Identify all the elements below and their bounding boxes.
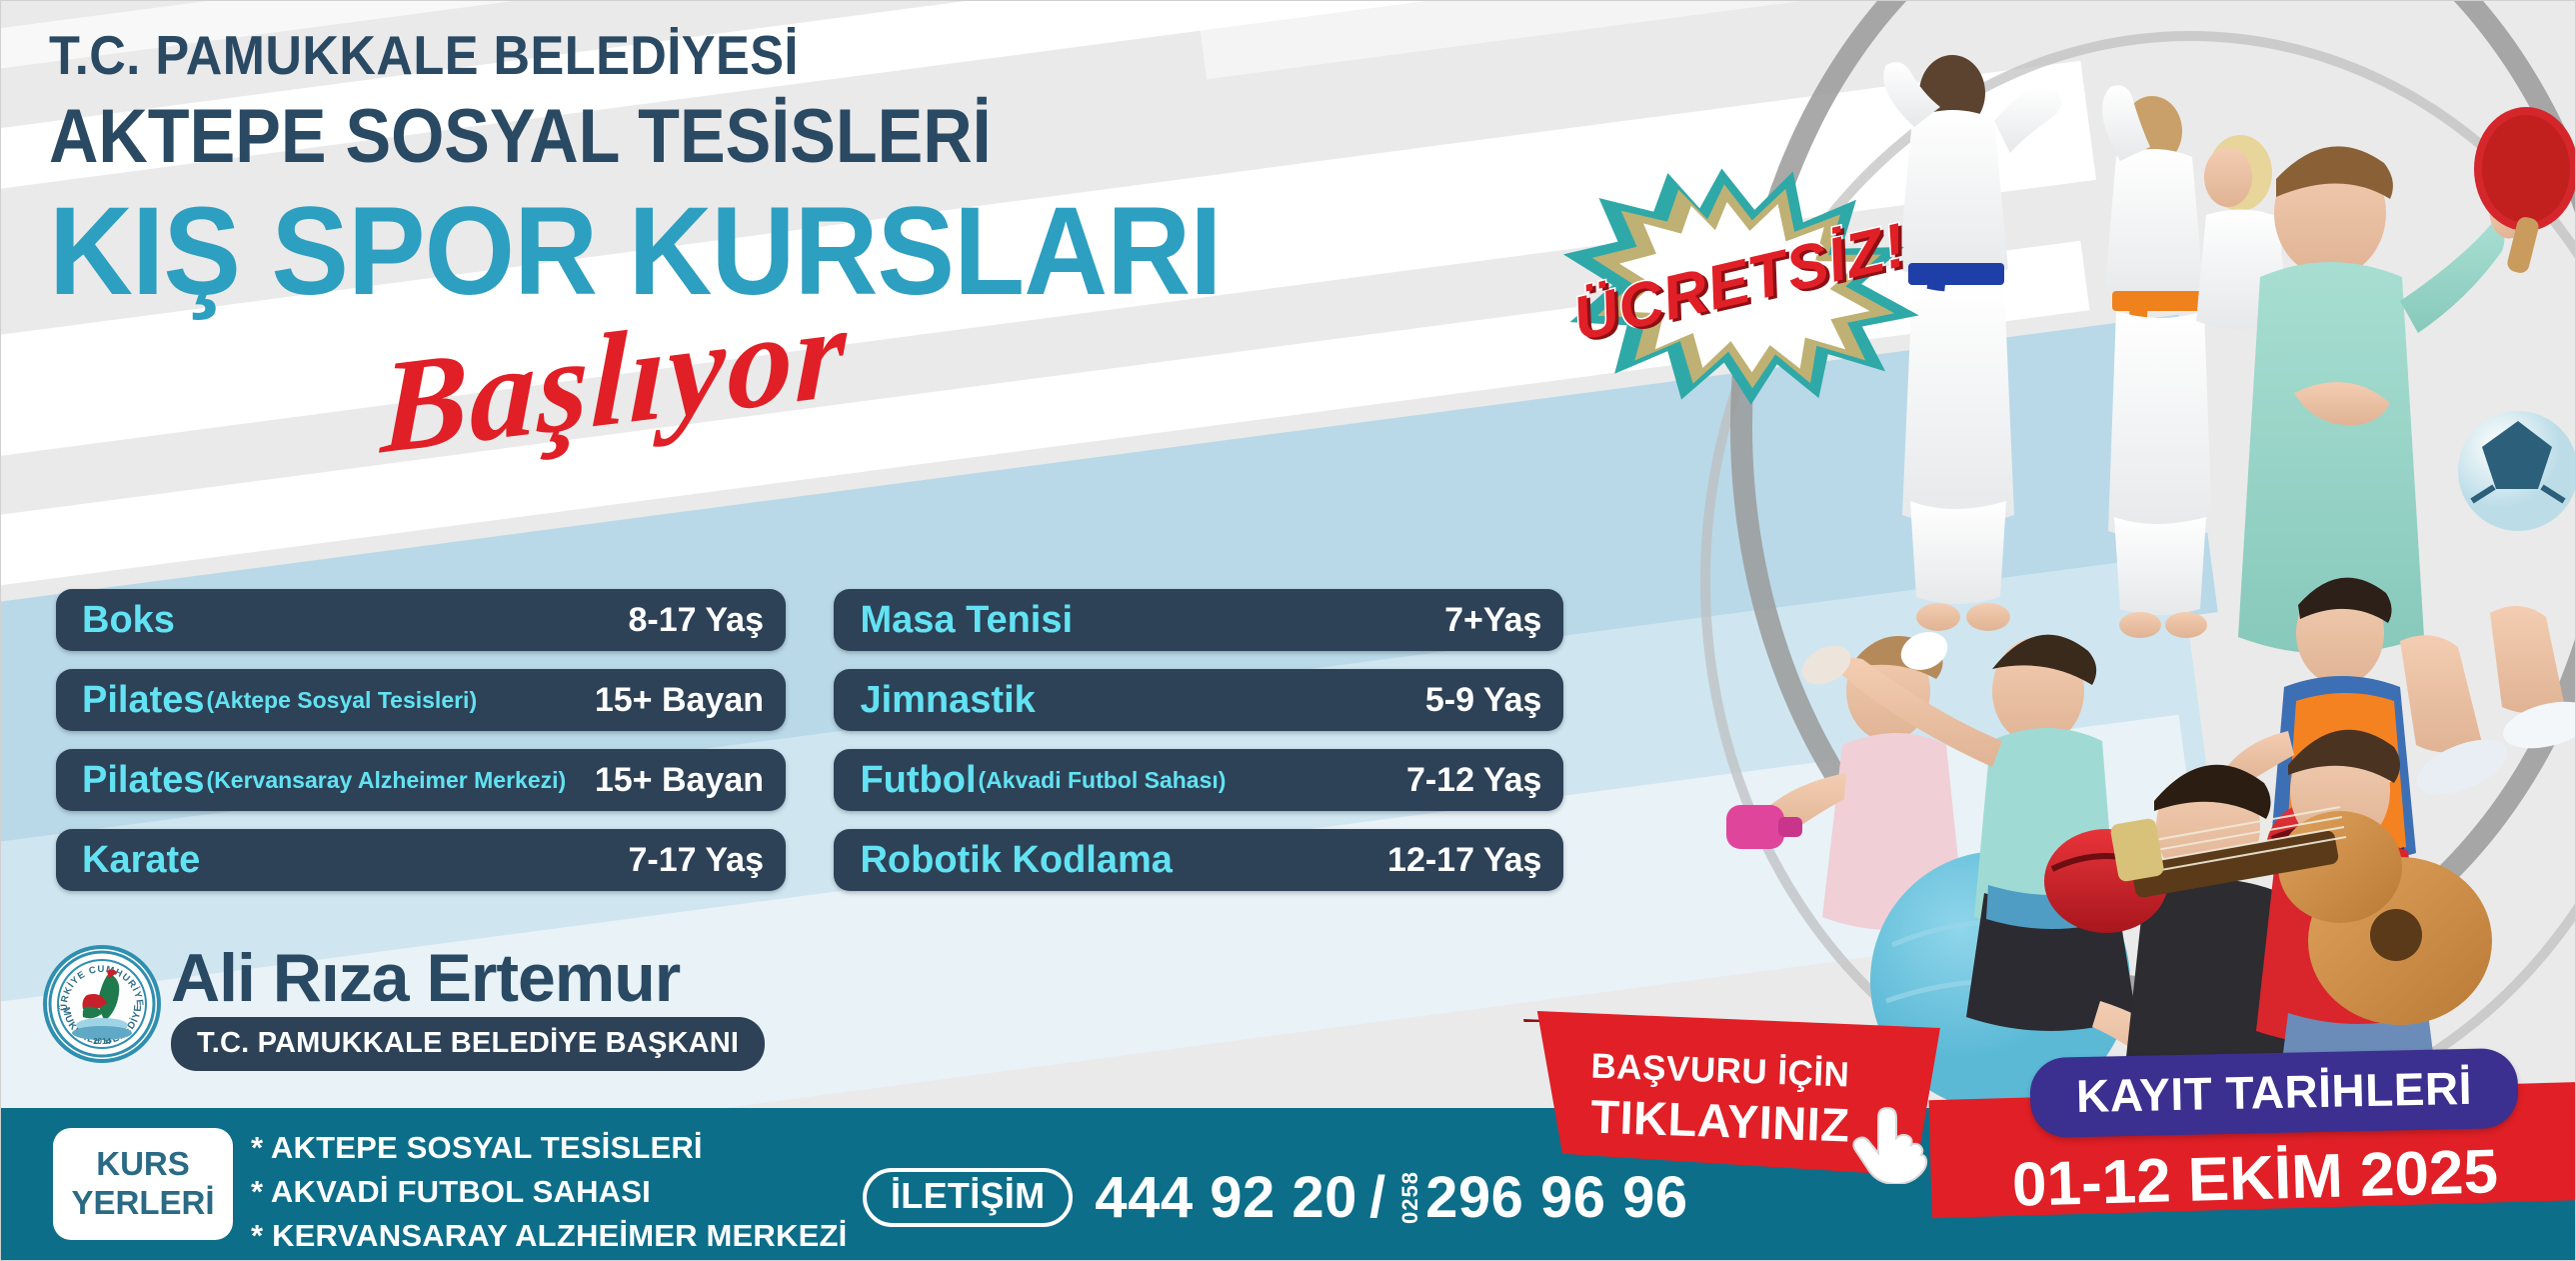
runner-legs xyxy=(2400,606,2576,805)
poster-banner: T.C. PAMUKKALE BELEDİYESİ AKTEPE SOSYAL … xyxy=(0,0,2576,1261)
contact-label: İLETİŞİM xyxy=(863,1168,1073,1227)
course-row-pilates-aktepe[interactable]: Pilates (Aktepe Sosyal Tesisleri) 15+ Ba… xyxy=(56,669,786,731)
karate-athlete-orange-belt xyxy=(2102,85,2212,638)
course-row-futbol[interactable]: Futbol (Akvadi Futbol Sahası) 7-12 Yaş xyxy=(834,749,1563,811)
course-age: 8-17 Yaş xyxy=(628,601,764,640)
course-age: 5-9 Yaş xyxy=(1425,681,1542,720)
course-row-pilates-kervansaray[interactable]: Pilates (Kervansaray Alzheimer Merkezi) … xyxy=(56,749,786,811)
svg-text:2014: 2014 xyxy=(93,1037,111,1046)
phone-separator: / xyxy=(1369,1164,1385,1231)
course-name: Karate xyxy=(82,839,200,882)
table-tennis-athlete xyxy=(2238,107,2576,654)
course-name: Pilates xyxy=(82,679,205,722)
course-column-right: Masa Tenisi 7+Yaş Jimnastik 5-9 Yaş Futb… xyxy=(834,589,1563,909)
course-name: Pilates xyxy=(82,759,205,802)
course-name: Robotik Kodlama xyxy=(860,839,1172,882)
phone-area-code: 0258 xyxy=(1397,1171,1423,1224)
venue-item: * AKVADİ FUTBOL SAHASI xyxy=(251,1170,847,1214)
course-age: 7-17 Yaş xyxy=(628,841,764,880)
venues-badge: KURS YERLERİ xyxy=(53,1128,233,1240)
header-main-title: KIŞ SPOR KURSLARI xyxy=(49,186,1222,317)
municipality-seal-logo: TÜRKİYE CUMHURİYETİ PAMUKKALE BELEDİYESİ… xyxy=(43,945,161,1063)
venues-badge-line-2: YERLERİ xyxy=(71,1184,214,1223)
venues-list: * AKTEPE SOSYAL TESİSLERİ * AKVADİ FUTBO… xyxy=(251,1126,847,1258)
venue-item: * AKTEPE SOSYAL TESİSLERİ xyxy=(251,1126,847,1170)
course-age: 7-12 Yaş xyxy=(1406,761,1542,800)
course-name: Futbol xyxy=(860,759,976,802)
course-name: Boks xyxy=(82,599,175,642)
course-list: Boks 8-17 Yaş Pilates (Aktepe Sosyal Tes… xyxy=(56,589,1563,909)
course-row-boks[interactable]: Boks 8-17 Yaş xyxy=(56,589,786,651)
registration-label-badge: KAYIT TARİHLERİ xyxy=(2029,1048,2519,1138)
soccer-ball xyxy=(2458,411,2576,531)
venues-badge-line-1: KURS xyxy=(96,1145,190,1184)
course-name: Jimnastik xyxy=(860,679,1035,722)
course-row-karate[interactable]: Karate 7-17 Yaş xyxy=(56,829,786,891)
mayor-title: T.C. PAMUKKALE BELEDİYE BAŞKANI xyxy=(171,1017,765,1071)
course-age: 12-17 Yaş xyxy=(1387,841,1541,880)
course-venue: (Akvadi Futbol Sahası) xyxy=(979,767,1227,794)
registration-dates: 01-12 EKİM 2025 xyxy=(2011,1136,2499,1221)
course-name: Masa Tenisi xyxy=(860,599,1073,642)
course-venue: (Aktepe Sosyal Tesisleri) xyxy=(207,687,478,714)
course-age: 7+Yaş xyxy=(1444,601,1541,640)
header-municipality: T.C. PAMUKKALE BELEDİYESİ xyxy=(49,23,799,87)
venue-item: * KERVANSARAY ALZHEİMER MERKEZİ xyxy=(251,1214,847,1258)
header-facility: AKTEPE SOSYAL TESİSLERİ xyxy=(49,93,992,180)
course-venue: (Kervansaray Alzheimer Merkezi) xyxy=(207,767,567,794)
seal-icon: TÜRKİYE CUMHURİYETİ PAMUKKALE BELEDİYESİ… xyxy=(47,949,157,1059)
apply-cta-ribbon[interactable]: BAŞVURU İÇİN TIKLAYINIZ xyxy=(1520,1011,1940,1181)
course-age: 15+ Bayan xyxy=(595,681,764,720)
course-age: 15+ Bayan xyxy=(595,761,764,800)
course-row-robotik-kodlama[interactable]: Robotik Kodlama 12-17 Yaş xyxy=(834,829,1563,891)
click-hand-cursor-icon xyxy=(1838,1088,1934,1189)
mayor-name: Ali Rıza Ertemur xyxy=(171,939,680,1017)
phone-number-primary[interactable]: 444 92 20 xyxy=(1095,1164,1357,1231)
course-row-jimnastik[interactable]: Jimnastik 5-9 Yaş xyxy=(834,669,1563,731)
course-column-left: Boks 8-17 Yaş Pilates (Aktepe Sosyal Tes… xyxy=(56,589,786,909)
course-row-masa-tenisi[interactable]: Masa Tenisi 7+Yaş xyxy=(834,589,1563,651)
